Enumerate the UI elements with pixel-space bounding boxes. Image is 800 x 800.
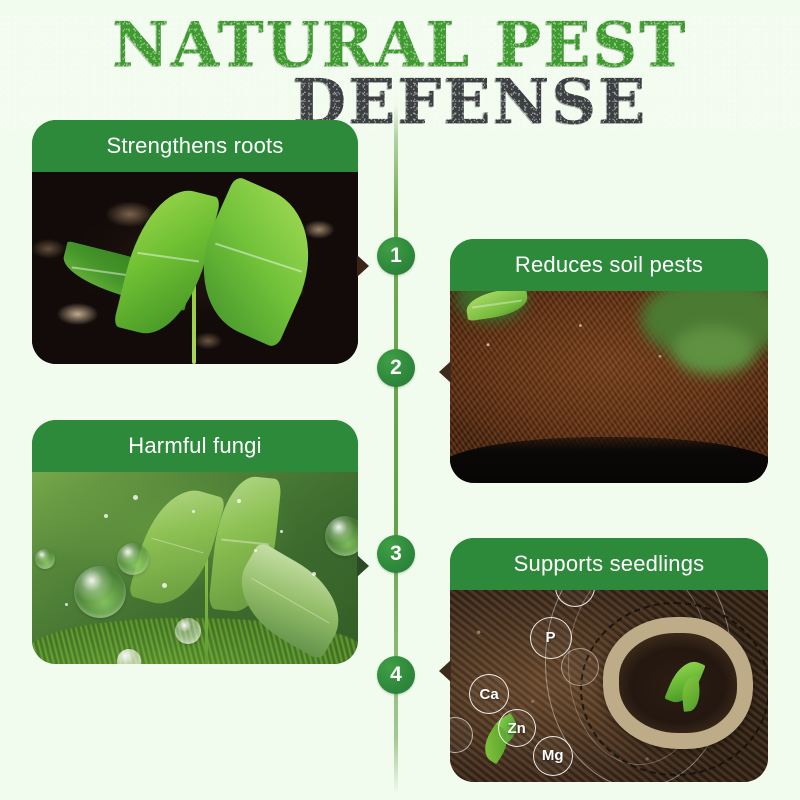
water-droplet <box>74 566 126 618</box>
nutrient-chip-mg[interactable]: Mg <box>533 736 573 776</box>
tray <box>450 437 768 483</box>
infographic-poster: NATURAL PEST DEFENSE 1 2 3 4 Strengthens… <box>0 0 800 800</box>
card-1-photo-seedling-in-soil <box>32 172 358 364</box>
timeline-node-3[interactable]: 3 <box>377 535 415 573</box>
nutrient-chip-partial-mid <box>561 648 599 686</box>
card-1-title: Strengthens roots <box>32 120 358 172</box>
card-pointer-notch <box>357 555 369 577</box>
timeline-node-4[interactable]: 4 <box>377 656 415 694</box>
card-pointer-notch <box>439 660 451 682</box>
card-2-title: Reduces soil pests <box>450 239 768 291</box>
nutrient-chip-zn[interactable]: Zn <box>498 709 536 747</box>
sprout <box>666 659 726 719</box>
water-droplet <box>117 543 149 575</box>
nutrient-chip-ca[interactable]: Ca <box>469 674 509 714</box>
water-droplet <box>35 549 55 569</box>
benefit-card-harmful-fungi[interactable]: Harmful fungi <box>32 420 358 664</box>
timeline-node-1[interactable]: 1 <box>377 237 415 275</box>
benefit-card-reduces-soil-pests[interactable]: Reduces soil pests <box>450 239 768 483</box>
card-pointer-notch <box>357 255 369 277</box>
card-3-photo-leaves-with-droplets <box>32 472 358 664</box>
card-3-title: Harmful fungi <box>32 420 358 472</box>
water-droplet <box>325 516 358 556</box>
benefit-card-supports-seedlings[interactable]: Supports seedlings <box>450 538 768 782</box>
poster-title: NATURAL PEST DEFENSE <box>0 16 800 130</box>
card-4-photo-seedling-in-peat-pellet: P Ca Zn Mg <box>450 590 768 782</box>
timeline-node-2[interactable]: 2 <box>377 349 415 387</box>
nutrient-chip-p[interactable]: P <box>530 617 572 659</box>
nutrient-chip-partial-left <box>450 717 473 753</box>
card-2-photo-compost-soil <box>450 291 768 483</box>
card-pointer-notch <box>439 361 451 383</box>
benefit-card-strengthens-roots[interactable]: Strengthens roots <box>32 120 358 364</box>
card-4-title: Supports seedlings <box>450 538 768 590</box>
